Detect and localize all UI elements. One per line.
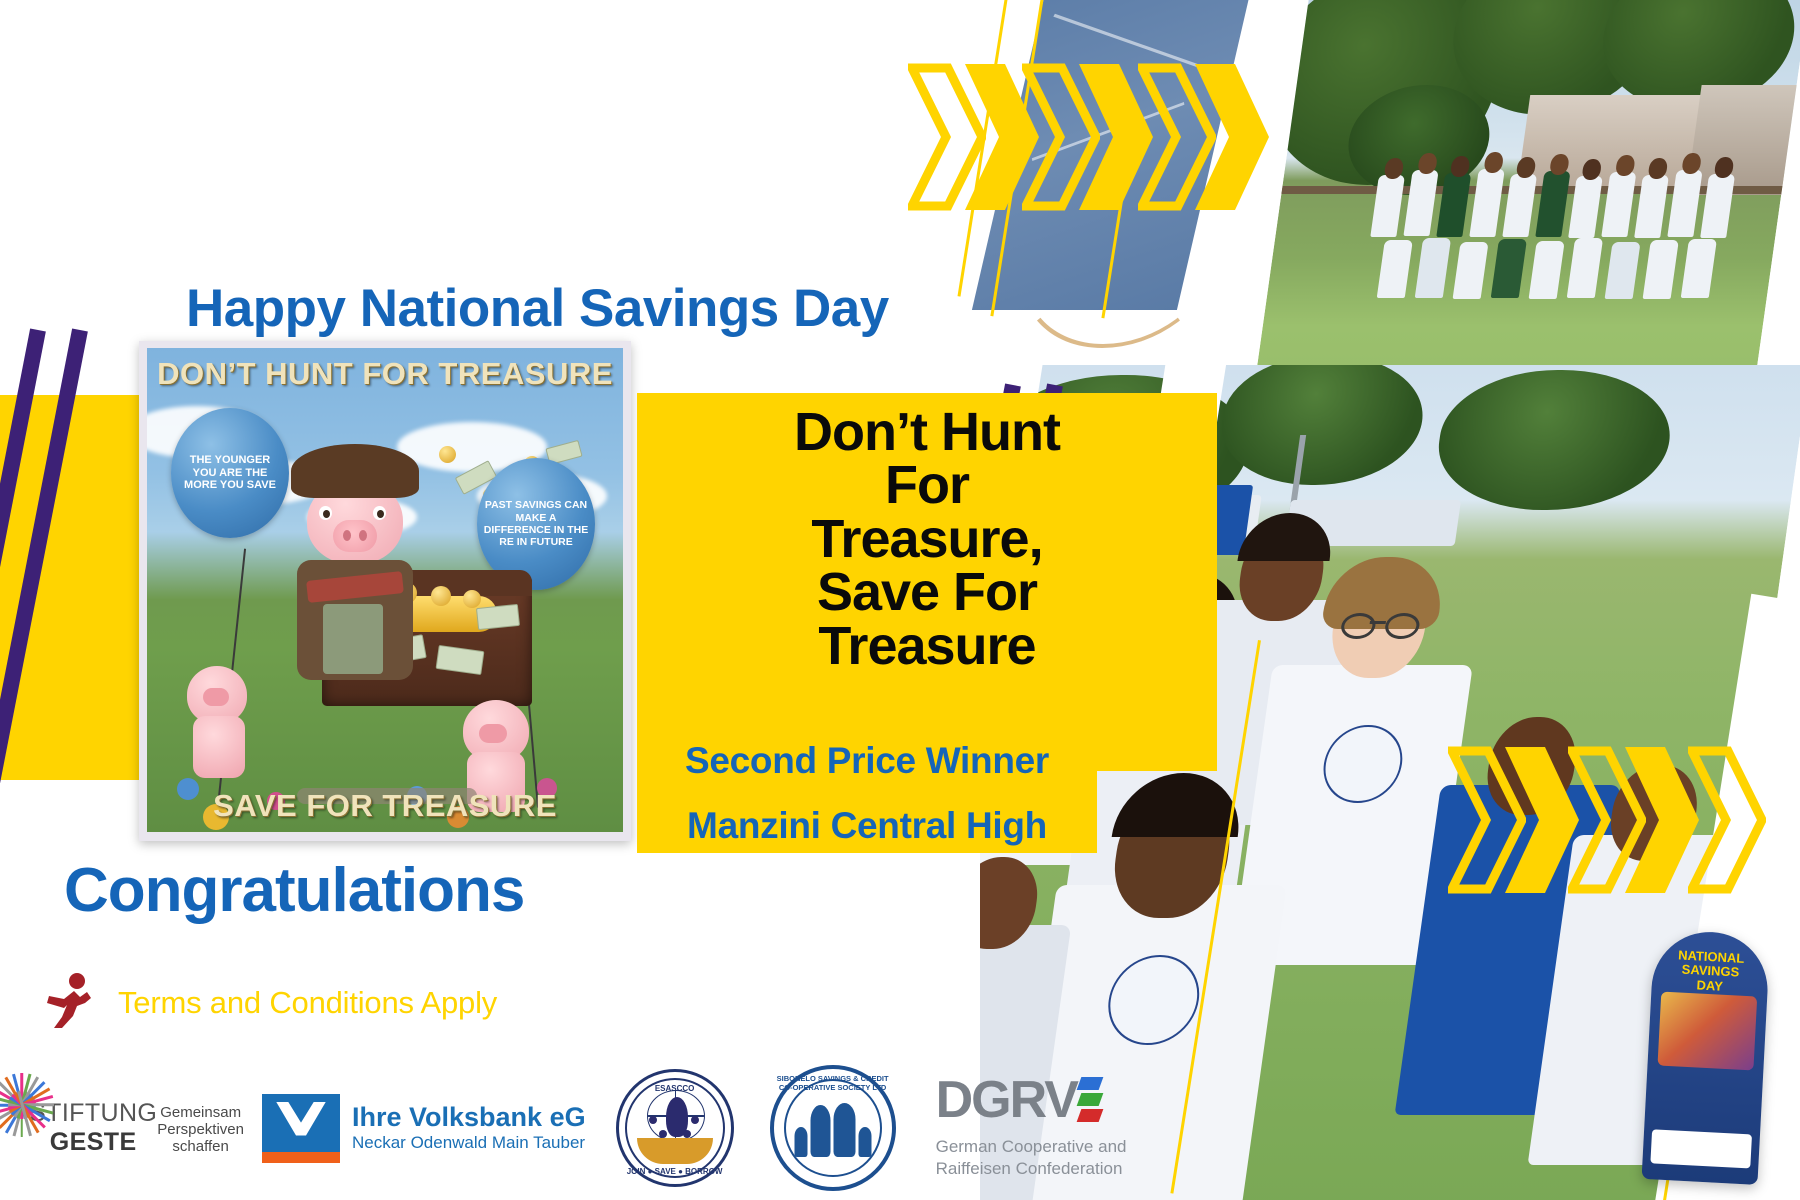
poster-balloon-left: THE YOUNGER YOU ARE THE MORE YOU SAVE [171, 408, 289, 538]
dgrv-wordmark: DGRV [936, 1077, 1077, 1125]
running-person-icon [44, 972, 96, 1033]
slogan-text: Don’t Hunt For Treasure, Save For Treasu… [637, 406, 1217, 673]
prize-label: Second Price Winner [637, 740, 1097, 782]
poster-bottom-caption: SAVE FOR TREASURE [147, 788, 623, 824]
burst-icon [14, 1078, 29, 1178]
dgrv-subtitle-line1: German Cooperative and [936, 1136, 1127, 1157]
chevron-solid-icon [1193, 62, 1271, 212]
slogan-line: Don’t Hunt [637, 406, 1217, 459]
poster-canvas: Happy National Savings Day DON’T HUNT FO… [0, 0, 1800, 1200]
congratulations-text: Congratulations [64, 855, 524, 926]
terms-text: Terms and Conditions Apply [118, 985, 497, 1021]
winning-poster-image: DON’T HUNT FOR TREASURE THE YOUNGER YOU … [139, 341, 631, 841]
slogan-line: Save For [637, 566, 1217, 619]
esascco-seal-icon: ESASCCO JOIN ● SAVE ● BORROW [616, 1069, 734, 1187]
slogan-line: Treasure, [637, 513, 1217, 566]
school-name: Manzini Central High [637, 805, 1097, 847]
volksbank-name: Ihre Volksbank eG [352, 1103, 586, 1133]
balloon-right-text: PAST SAVINGS CAN MAKE A DIFFERENCE IN TH… [477, 499, 595, 549]
sibonelo-ring-text: SIBONELO SAVINGS & CREDIT CO-OPERATIVE S… [774, 1074, 892, 1092]
logo-esascco: ESASCCO JOIN ● SAVE ● BORROW [586, 1069, 734, 1187]
balloon-left-text: THE YOUNGER YOU ARE THE MORE YOU SAVE [171, 454, 289, 493]
volksbank-region: Neckar Odenwald Main Tauber [352, 1133, 586, 1153]
chevron-outline-icon [1688, 745, 1766, 895]
poster-top-caption: DON’T HUNT FOR TREASURE [147, 356, 623, 392]
terms-row: Terms and Conditions Apply [44, 972, 497, 1033]
slogan-line: Treasure [637, 620, 1217, 673]
geste-name-bold: GESTE [50, 1128, 137, 1156]
esascco-bottom-text: JOIN ● SAVE ● BORROW [619, 1167, 731, 1176]
geste-name: STIFTUNG GESTE [29, 1099, 157, 1157]
logo-dgrv: DGRV German Cooperative and Raiffeisen C… [936, 1077, 1127, 1179]
sibonelo-seal-icon: SIBONELO SAVINGS & CREDIT CO-OPERATIVE S… [770, 1065, 896, 1191]
logo-volksbank: Ihre Volksbank eG Neckar Odenwald Main T… [262, 1094, 586, 1163]
dgrv-slash-icon [1079, 1077, 1105, 1131]
flag-artwork [1657, 992, 1757, 1071]
logo-sibonelo: SIBONELO SAVINGS & CREDIT CO-OPERATIVE S… [734, 1065, 896, 1191]
event-flag-banner: NATIONAL SAVINGS DAY [1642, 929, 1771, 1185]
volksbank-mark-icon [262, 1094, 340, 1163]
page-title: Happy National Savings Day [186, 278, 889, 339]
slogan-line: For [637, 459, 1217, 512]
dgrv-subtitle-line2: Raiffeisen Confederation [936, 1158, 1127, 1179]
sponsor-logo-row: STIFTUNG GESTE Gemeinsam Perspektiven sc… [0, 1058, 1215, 1198]
geste-tagline: Gemeinsam Perspektiven schaffen [157, 1104, 244, 1155]
logo-stiftung-geste: STIFTUNG GESTE Gemeinsam Perspektiven sc… [14, 1078, 244, 1178]
flag-footer-strip [1650, 1129, 1752, 1168]
